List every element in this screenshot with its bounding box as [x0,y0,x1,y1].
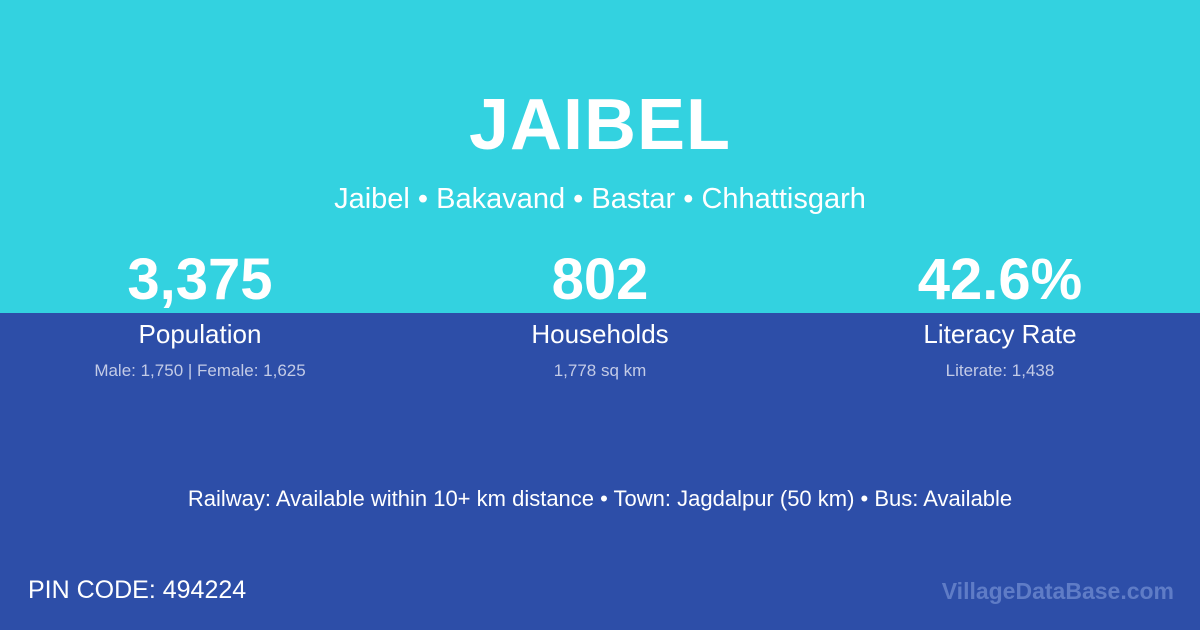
stat-subtext: Literate: 1,438 [800,359,1200,383]
stat-label: Literacy Rate [800,317,1200,351]
stats-row: 3,375 Population Male: 1,750 | Female: 1… [0,245,1200,383]
stat-label: Households [400,317,800,351]
stat-literacy-rate: 42.6% Literacy Rate Literate: 1,438 [800,245,1200,383]
stat-value: 802 [400,245,800,315]
site-brand: VillageDataBase.com [942,575,1174,607]
transport-info: Railway: Available within 10+ km distanc… [0,483,1200,515]
stat-households: 802 Households 1,778 sq km [400,245,800,383]
stat-value: 3,375 [0,245,400,315]
stat-population: 3,375 Population Male: 1,750 | Female: 1… [0,245,400,383]
stat-label: Population [0,317,400,351]
page-title: JAIBEL [0,82,1200,168]
breadcrumb: Jaibel • Bakavand • Bastar • Chhattisgar… [0,181,1200,217]
stat-subtext: 1,778 sq km [400,359,800,383]
stat-value: 42.6% [800,245,1200,315]
stat-subtext: Male: 1,750 | Female: 1,625 [0,359,400,383]
village-info-card: JAIBEL Jaibel • Bakavand • Bastar • Chha… [0,0,1200,630]
pin-code: PIN CODE: 494224 [28,573,246,607]
